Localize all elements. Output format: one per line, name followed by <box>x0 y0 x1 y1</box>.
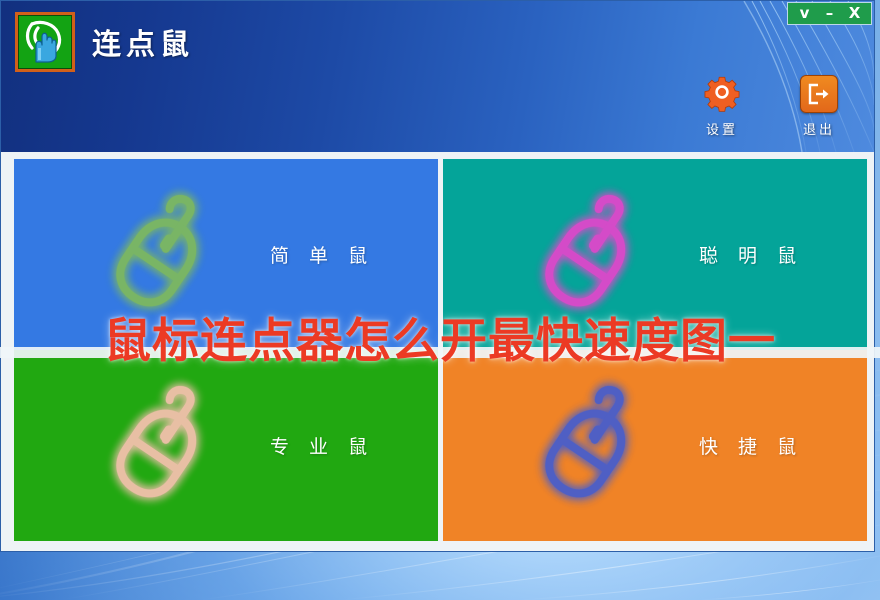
mode-panel-simple[interactable]: 简 单 鼠 <box>14 159 438 350</box>
mode-label-professional: 专 业 鼠 <box>270 432 374 459</box>
settings-button[interactable]: 设置 <box>694 73 750 138</box>
exit-icon <box>791 73 847 115</box>
settings-label: 设置 <box>694 119 750 138</box>
mouse-icon <box>88 369 238 523</box>
app-logo-icon <box>15 12 75 72</box>
mode-label-simple: 简 单 鼠 <box>270 241 374 268</box>
exit-button[interactable]: 退出 <box>791 73 847 138</box>
minimize-button[interactable]: – <box>817 3 842 24</box>
brand: 连点鼠 <box>15 12 194 72</box>
mode-panel-smart[interactable]: 聪 明 鼠 <box>443 159 867 350</box>
mouse-icon <box>517 178 667 332</box>
exit-label: 退出 <box>791 119 847 138</box>
mode-panel-professional[interactable]: 专 业 鼠 <box>14 350 438 541</box>
mode-label-smart: 聪 明 鼠 <box>699 241 803 268</box>
mouse-icon <box>88 178 238 332</box>
app-header: 连点鼠 v – X <box>1 1 874 152</box>
header-actions: 设置 退出 <box>694 73 847 138</box>
mode-panel-quick[interactable]: 快 捷 鼠 <box>443 350 867 541</box>
gear-icon <box>694 73 750 115</box>
help-button[interactable]: v <box>792 3 817 24</box>
mode-grid: 简 单 鼠 <box>14 159 867 541</box>
window-controls: v – X <box>787 2 872 25</box>
mode-label-quick: 快 捷 鼠 <box>699 432 803 459</box>
close-button[interactable]: X <box>842 3 867 24</box>
app-title: 连点鼠 <box>92 21 194 63</box>
application-window: 连点鼠 v – X <box>0 0 875 552</box>
mouse-icon <box>517 369 667 523</box>
